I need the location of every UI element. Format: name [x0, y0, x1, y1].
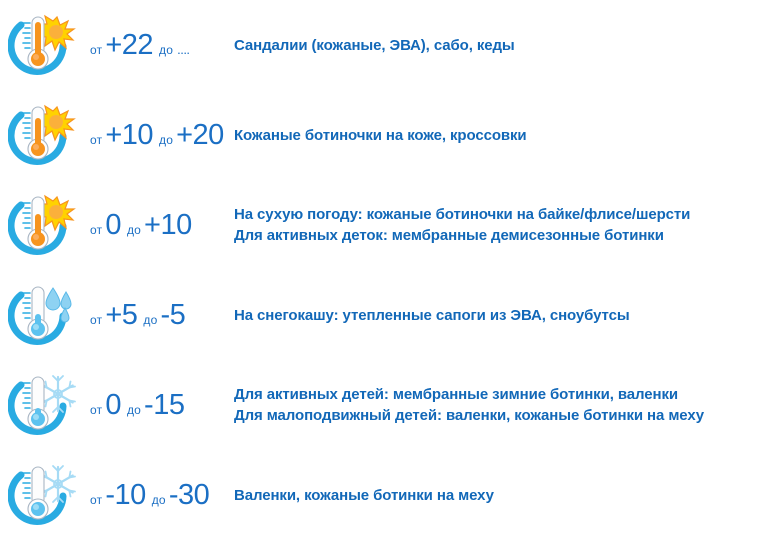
range-to-label: до: [153, 43, 176, 57]
description-line: На снегокашу: утепленные сапоги из ЭВА, …: [234, 305, 770, 326]
description-line: Для малоподвижный детей: валенки, кожаны…: [234, 405, 770, 426]
range-to-label: до: [153, 133, 176, 147]
range-value: от +10 до +20: [88, 119, 230, 152]
description-cell: Сандалии (кожаные, ЭВА), сабо, кеды: [230, 35, 770, 56]
range-value: от +5 до -5: [88, 299, 230, 332]
range-from-label: от: [90, 43, 105, 57]
range-to-value: -30: [169, 479, 209, 512]
range-to-value: +20: [176, 119, 224, 152]
description-line: Кожаные ботиночки на коже, кроссовки: [234, 125, 770, 146]
snowflake-shape: [41, 376, 75, 412]
range-value: от +22 до ....: [88, 29, 230, 62]
range-value: от -10 до -30: [88, 479, 230, 512]
table-row: от 0 до -15 Для активных детей: мембранн…: [0, 360, 770, 450]
range-to-value: +10: [144, 209, 192, 242]
thermometer-snow-icon: [8, 368, 80, 442]
range-to-value: -5: [160, 299, 185, 332]
thermometer-snow-cold-icon: [8, 458, 80, 532]
table-row: от 0 до +10 На сухую погоду: кожаные бот…: [0, 180, 770, 270]
description-line: Для активных детей: мембранные зимние бо…: [234, 384, 770, 405]
range-from-label: от: [90, 313, 105, 327]
icon-cell: [0, 180, 88, 270]
icon-cell: [0, 360, 88, 450]
table-row: от +22 до .... Сандалии (кожаные, ЭВА), …: [0, 0, 770, 90]
range-to-label: до: [146, 493, 169, 507]
range-from-label: от: [90, 223, 105, 237]
description-cell: Для активных детей: мембранные зимние бо…: [230, 384, 770, 426]
table-row: от -10 до -30 Валенки, кожаные ботинки н…: [0, 450, 770, 540]
description-line: Сандалии (кожаные, ЭВА), сабо, кеды: [234, 35, 770, 56]
range-from-value: +22: [105, 29, 153, 62]
icon-cell: [0, 0, 88, 90]
table-row: от +10 до +20 Кожаные ботиночки на коже,…: [0, 90, 770, 180]
range-to-label: до: [121, 403, 144, 417]
thermometer-sun-warm-icon: [8, 98, 80, 172]
range-from-value: +5: [105, 299, 137, 332]
thermometer-sun-mild-icon: [8, 188, 80, 262]
range-to-label: до: [137, 313, 160, 327]
range-to-label: до: [121, 223, 144, 237]
thermometer-rain-icon: [8, 278, 80, 352]
description-line: Валенки, кожаные ботинки на меху: [234, 485, 770, 506]
range-from-value: +10: [105, 119, 153, 152]
icon-cell: [0, 270, 88, 360]
description-cell: Кожаные ботиночки на коже, кроссовки: [230, 125, 770, 146]
range-from-label: от: [90, 133, 105, 147]
range-value: от 0 до +10: [88, 209, 230, 242]
range-to-value: -15: [144, 389, 184, 422]
range-from-value: 0: [105, 389, 121, 422]
description-cell: На снегокашу: утепленные сапоги из ЭВА, …: [230, 305, 770, 326]
icon-cell: [0, 450, 88, 540]
temperature-footwear-chart: от +22 до .... Сандалии (кожаные, ЭВА), …: [0, 0, 770, 540]
range-from-value: 0: [105, 209, 121, 242]
water-drops: [46, 288, 71, 322]
description-line: На сухую погоду: кожаные ботиночки на ба…: [234, 204, 770, 225]
range-from-value: -10: [105, 479, 145, 512]
thermometer-sun-hot-icon: [8, 8, 80, 82]
icon-cell: [0, 90, 88, 180]
description-cell: На сухую погоду: кожаные ботиночки на ба…: [230, 204, 770, 246]
range-value: от 0 до -15: [88, 389, 230, 422]
table-row: от +5 до -5 На снегокашу: утепленные сап…: [0, 270, 770, 360]
range-to-value: ....: [176, 42, 189, 57]
range-from-label: от: [90, 493, 105, 507]
range-from-label: от: [90, 403, 105, 417]
snowflake-shape: [41, 466, 75, 502]
description-line: Для активных деток: мембранные демисезон…: [234, 225, 770, 246]
description-cell: Валенки, кожаные ботинки на меху: [230, 485, 770, 506]
